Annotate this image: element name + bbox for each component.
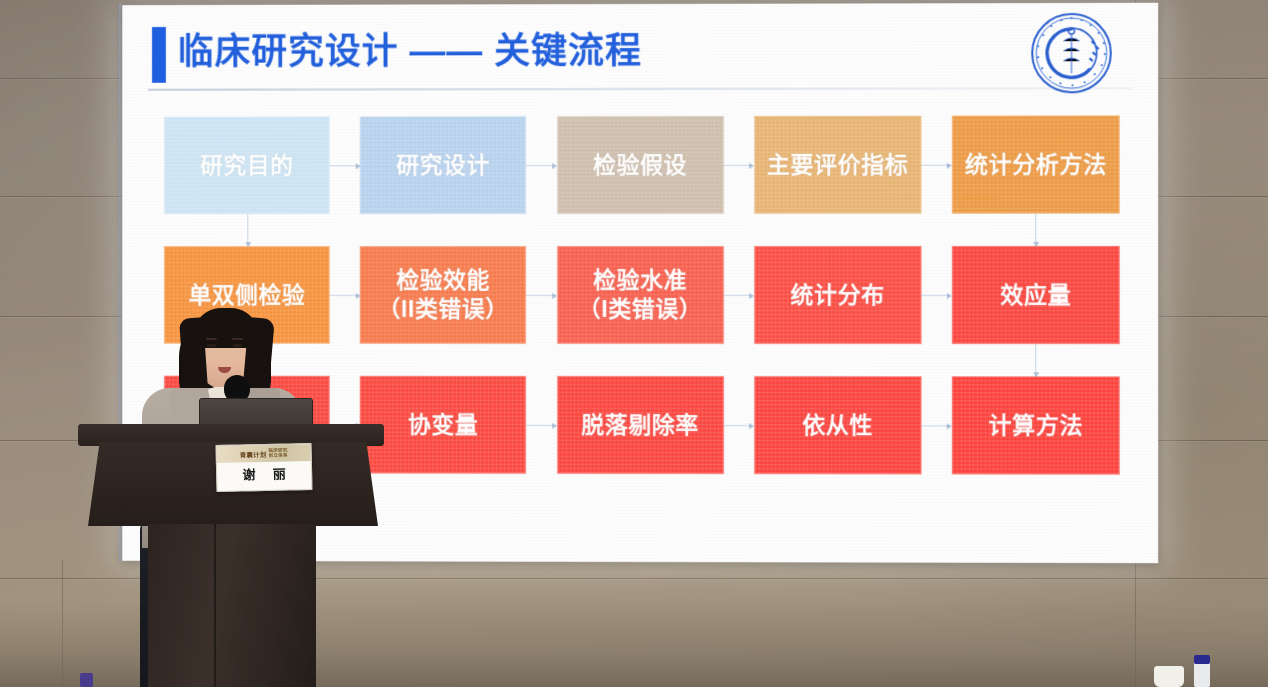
flow-cell[interactable]: 是否	[164, 376, 330, 474]
flow-arrow-vertical	[1035, 344, 1036, 376]
floor-object	[80, 673, 93, 687]
projection-screen: 临床研究设计 —— 关键流程	[122, 3, 1158, 563]
flow-cell[interactable]: 统计分布	[754, 246, 922, 344]
screen-edge-left	[119, 4, 121, 562]
slide-title-row: 临床研究设计 —— 关键流程	[122, 21, 1158, 85]
flow-arrow-horizontal	[526, 425, 556, 426]
flow-cell[interactable]: 协变量	[360, 376, 526, 474]
flow-cell[interactable]: 检验假设	[557, 116, 724, 214]
paper-cup	[1154, 666, 1184, 687]
flow-arrow-horizontal	[526, 295, 556, 296]
flow-arrow-horizontal	[330, 295, 360, 296]
flow-cell[interactable]: 检验水准（I类错误）	[557, 246, 724, 344]
flow-arrow-vertical	[247, 344, 248, 376]
flow-row-1: 研究目的 研究设计 检验假设 主要评价指标 统计分析方法	[164, 115, 1120, 214]
flow-arrow-horizontal	[723, 165, 753, 166]
flow-arrow-horizontal	[526, 165, 556, 166]
wall-panel-line	[0, 578, 1268, 579]
flow-arrow-horizontal	[330, 425, 360, 426]
conference-room-scene: 临床研究设计 —— 关键流程	[0, 0, 1268, 687]
flow-cell[interactable]: 研究设计	[360, 116, 526, 214]
presentation-slide: 临床研究设计 —— 关键流程	[122, 3, 1158, 563]
flow-arrow-horizontal	[723, 295, 753, 296]
title-divider	[148, 87, 1132, 91]
flow-arrow-horizontal	[921, 425, 951, 426]
flow-row-2: 单双侧检验 检验效能（II类错误） 检验水准（I类错误） 统计分布 效应量	[164, 246, 1120, 344]
title-accent-bar	[152, 27, 166, 83]
water-bottle	[1194, 661, 1210, 687]
flow-cell[interactable]: 依从性	[754, 376, 922, 474]
flow-cell[interactable]: 计算方法	[952, 376, 1120, 475]
flow-cell[interactable]: 统计分析方法	[952, 115, 1120, 213]
page-title: 临床研究设计 —— 关键流程	[178, 22, 642, 81]
flow-arrow-horizontal	[723, 425, 753, 426]
flow-cell[interactable]: 效应量	[952, 246, 1120, 344]
flow-cell[interactable]: 主要评价指标	[754, 116, 922, 214]
flow-arrow-vertical	[1035, 214, 1036, 246]
flow-arrow-horizontal	[330, 165, 360, 166]
flow-arrow-horizontal	[921, 295, 951, 296]
water-bottle-cap	[1194, 655, 1210, 664]
flow-cell[interactable]: 研究目的	[164, 116, 330, 214]
flow-cell[interactable]: 单双侧检验	[164, 246, 330, 344]
flow-cell[interactable]: 脱落剔除率	[557, 376, 724, 474]
flow-cell[interactable]: 检验效能（II类错误）	[360, 246, 526, 344]
university-seal-logo	[1029, 11, 1114, 95]
flow-arrow-vertical	[247, 214, 248, 246]
process-flow-grid: 研究目的 研究设计 检验假设 主要评价指标 统计分析方法 单双侧检验 检验效能（…	[164, 115, 1120, 507]
flow-arrow-horizontal	[921, 165, 951, 166]
flow-row-3: 是否 协变量 脱落剔除率 依从性 计算方法	[164, 376, 1120, 475]
floor	[0, 601, 1268, 687]
